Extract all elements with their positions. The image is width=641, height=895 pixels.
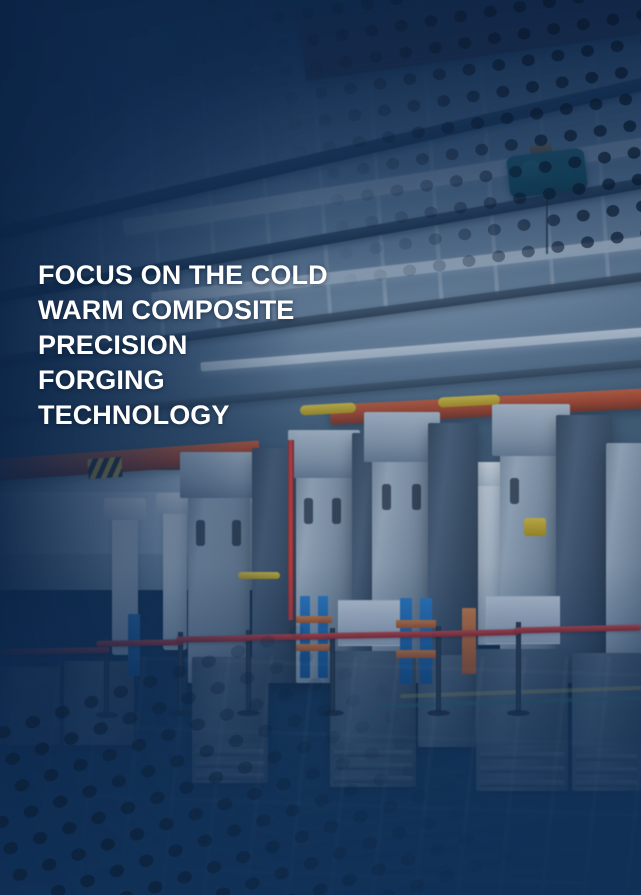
hero-headline: FOCUS ON THE COLD WARM COMPOSITE PRECISI…	[38, 258, 458, 433]
hero-banner: FOCUS ON THE COLD WARM COMPOSITE PRECISI…	[0, 0, 641, 895]
